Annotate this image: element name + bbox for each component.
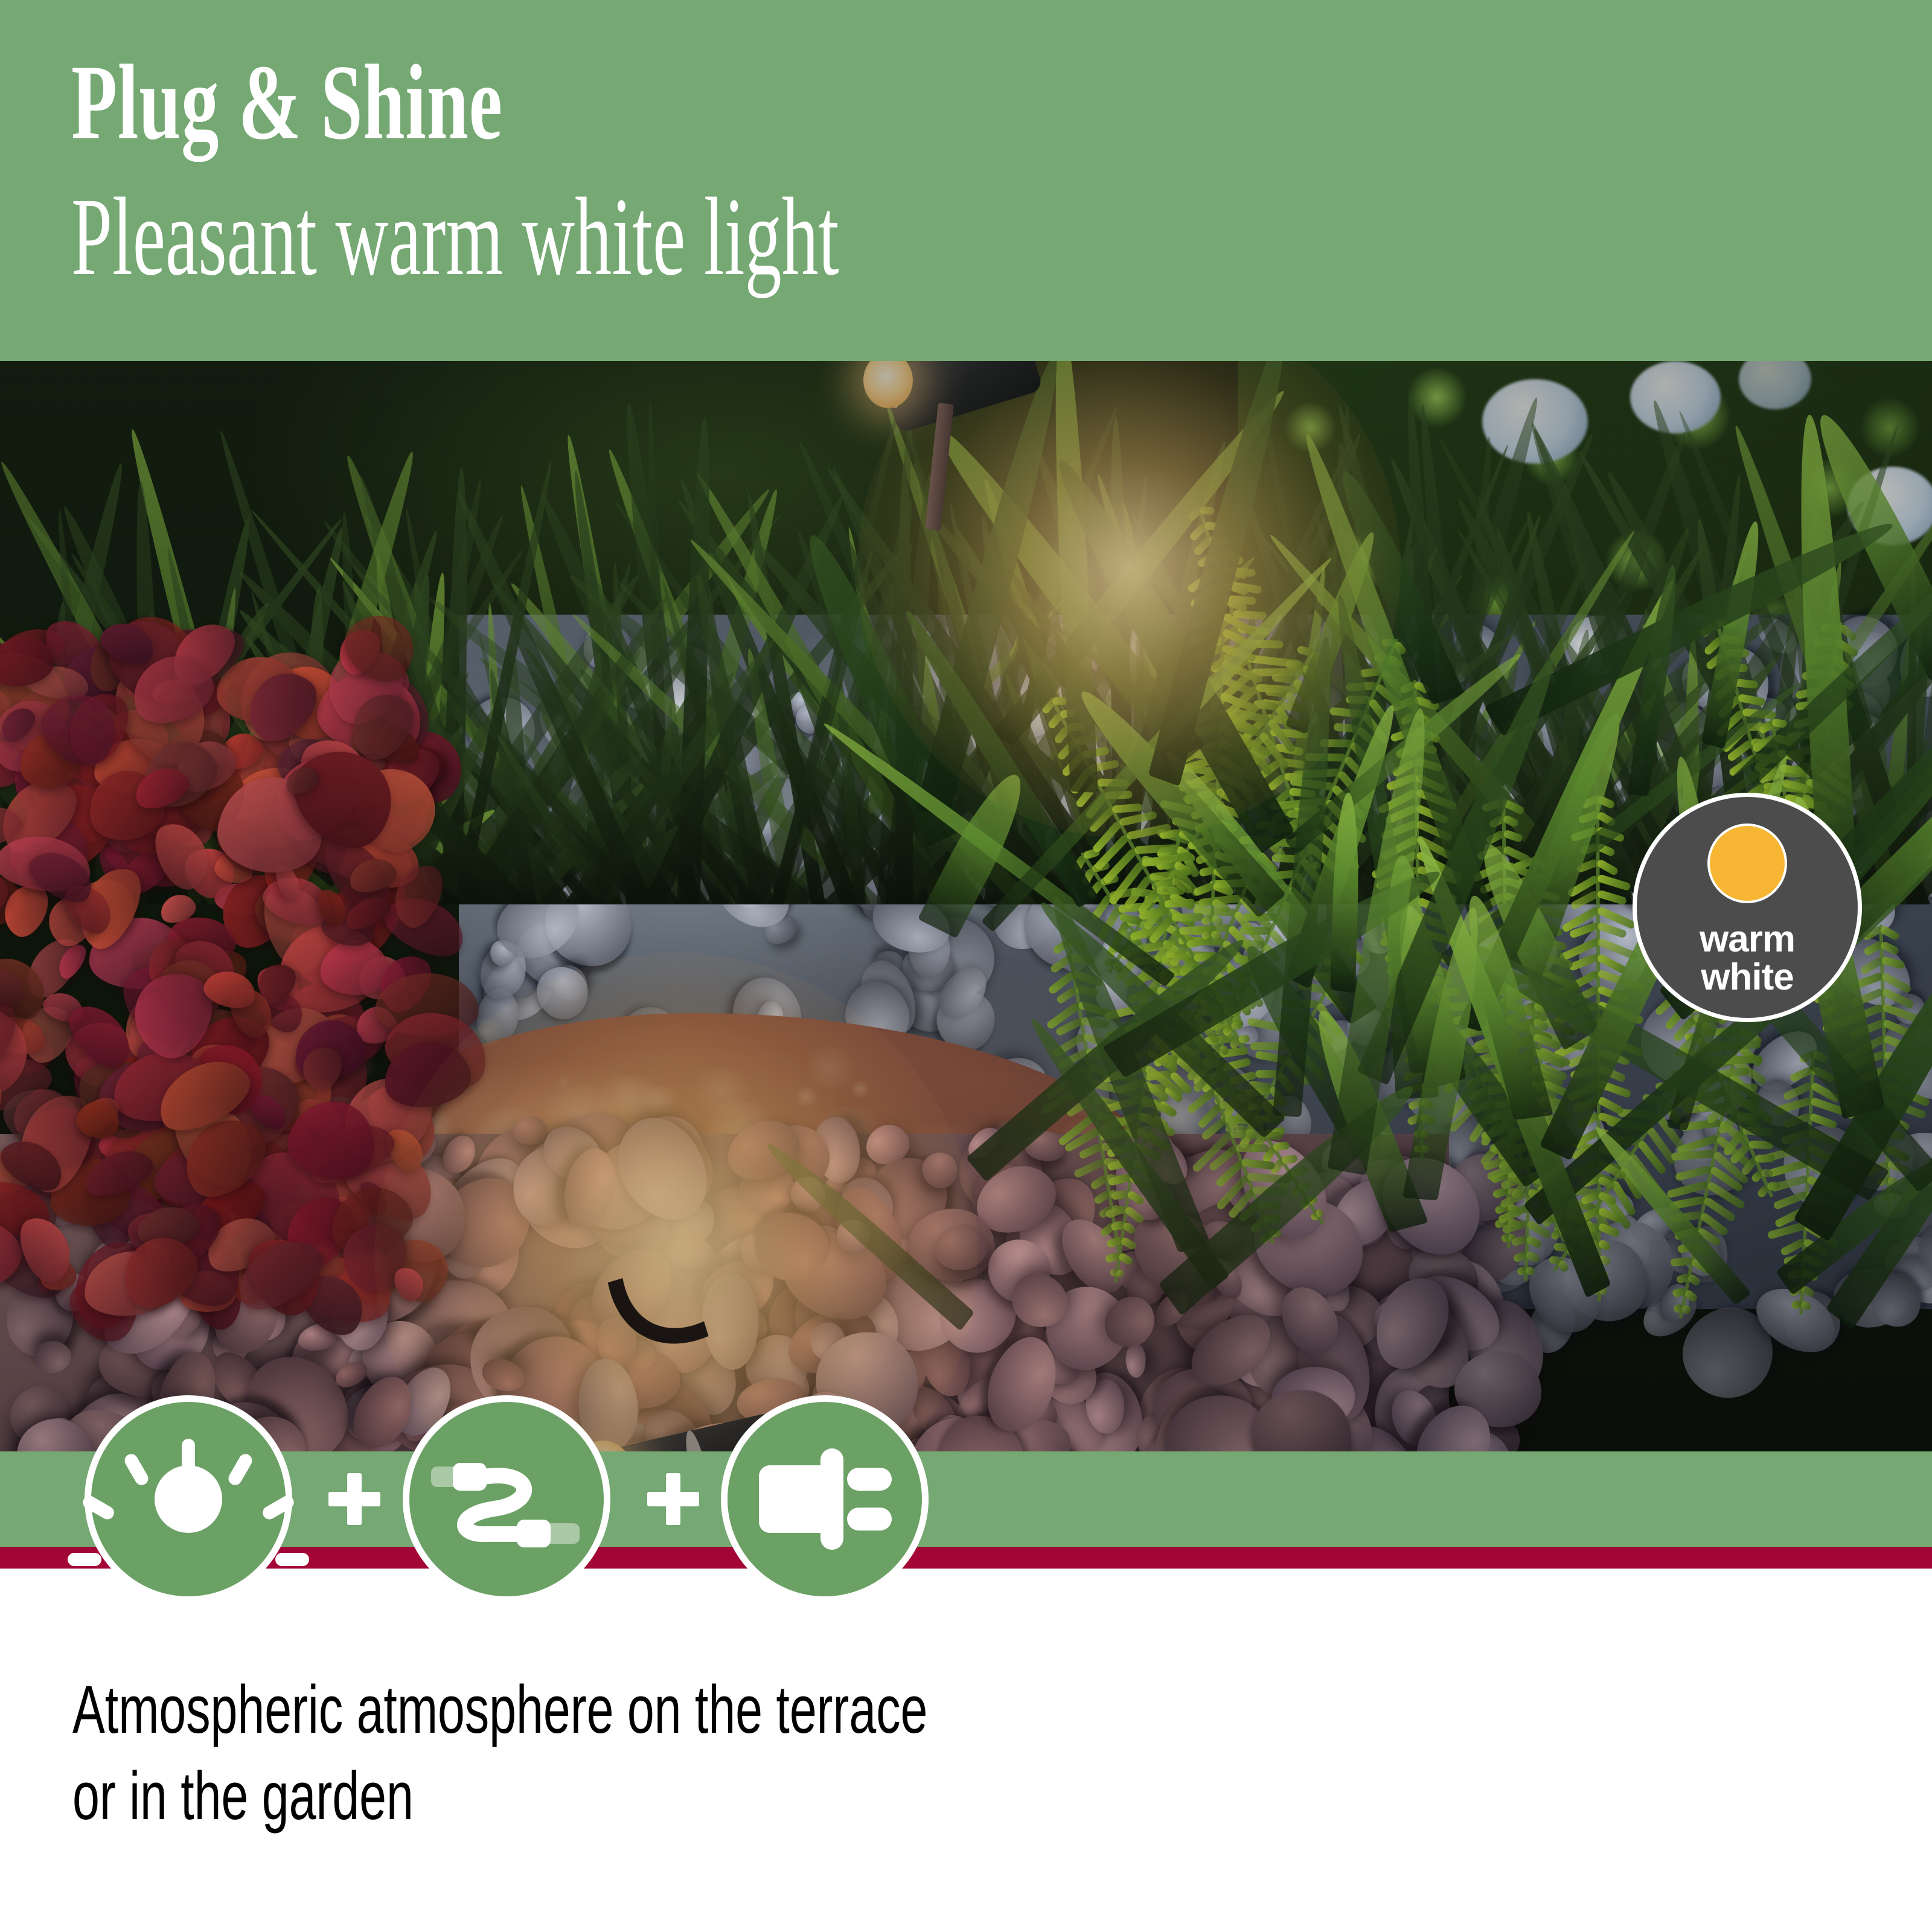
badge-label-line1: warm — [1700, 920, 1795, 958]
cable-icon — [431, 1445, 582, 1553]
plug-icon — [755, 1439, 894, 1559]
feature-separator-1 — [328, 1473, 380, 1525]
header-band: Plug & Shine Pleasant warm white light — [0, 0, 1932, 361]
product-marketing-banner: Plug & Shine Pleasant warm white light — [0, 0, 1932, 1932]
feature-separator-2 — [647, 1473, 699, 1525]
warm-white-badge: warm white — [1633, 793, 1862, 1022]
cable-feature[interactable] — [403, 1395, 610, 1603]
page-subtitle: Pleasant warm white light — [71, 181, 839, 293]
sun-icon — [91, 1402, 286, 1596]
red-foliage-shrub — [0, 615, 392, 1279]
light-feature[interactable] — [85, 1395, 292, 1603]
hero-photo: warm white — [0, 361, 1932, 1451]
badge-label: warm white — [1700, 920, 1795, 996]
warm-white-dot-icon — [1707, 824, 1787, 903]
plug-feature[interactable] — [721, 1395, 929, 1603]
caption-text: Atmospheric atmosphere on the terrace or… — [72, 1666, 1203, 1840]
badge-label-line2: white — [1700, 958, 1795, 996]
page-title: Plug & Shine — [71, 48, 503, 156]
